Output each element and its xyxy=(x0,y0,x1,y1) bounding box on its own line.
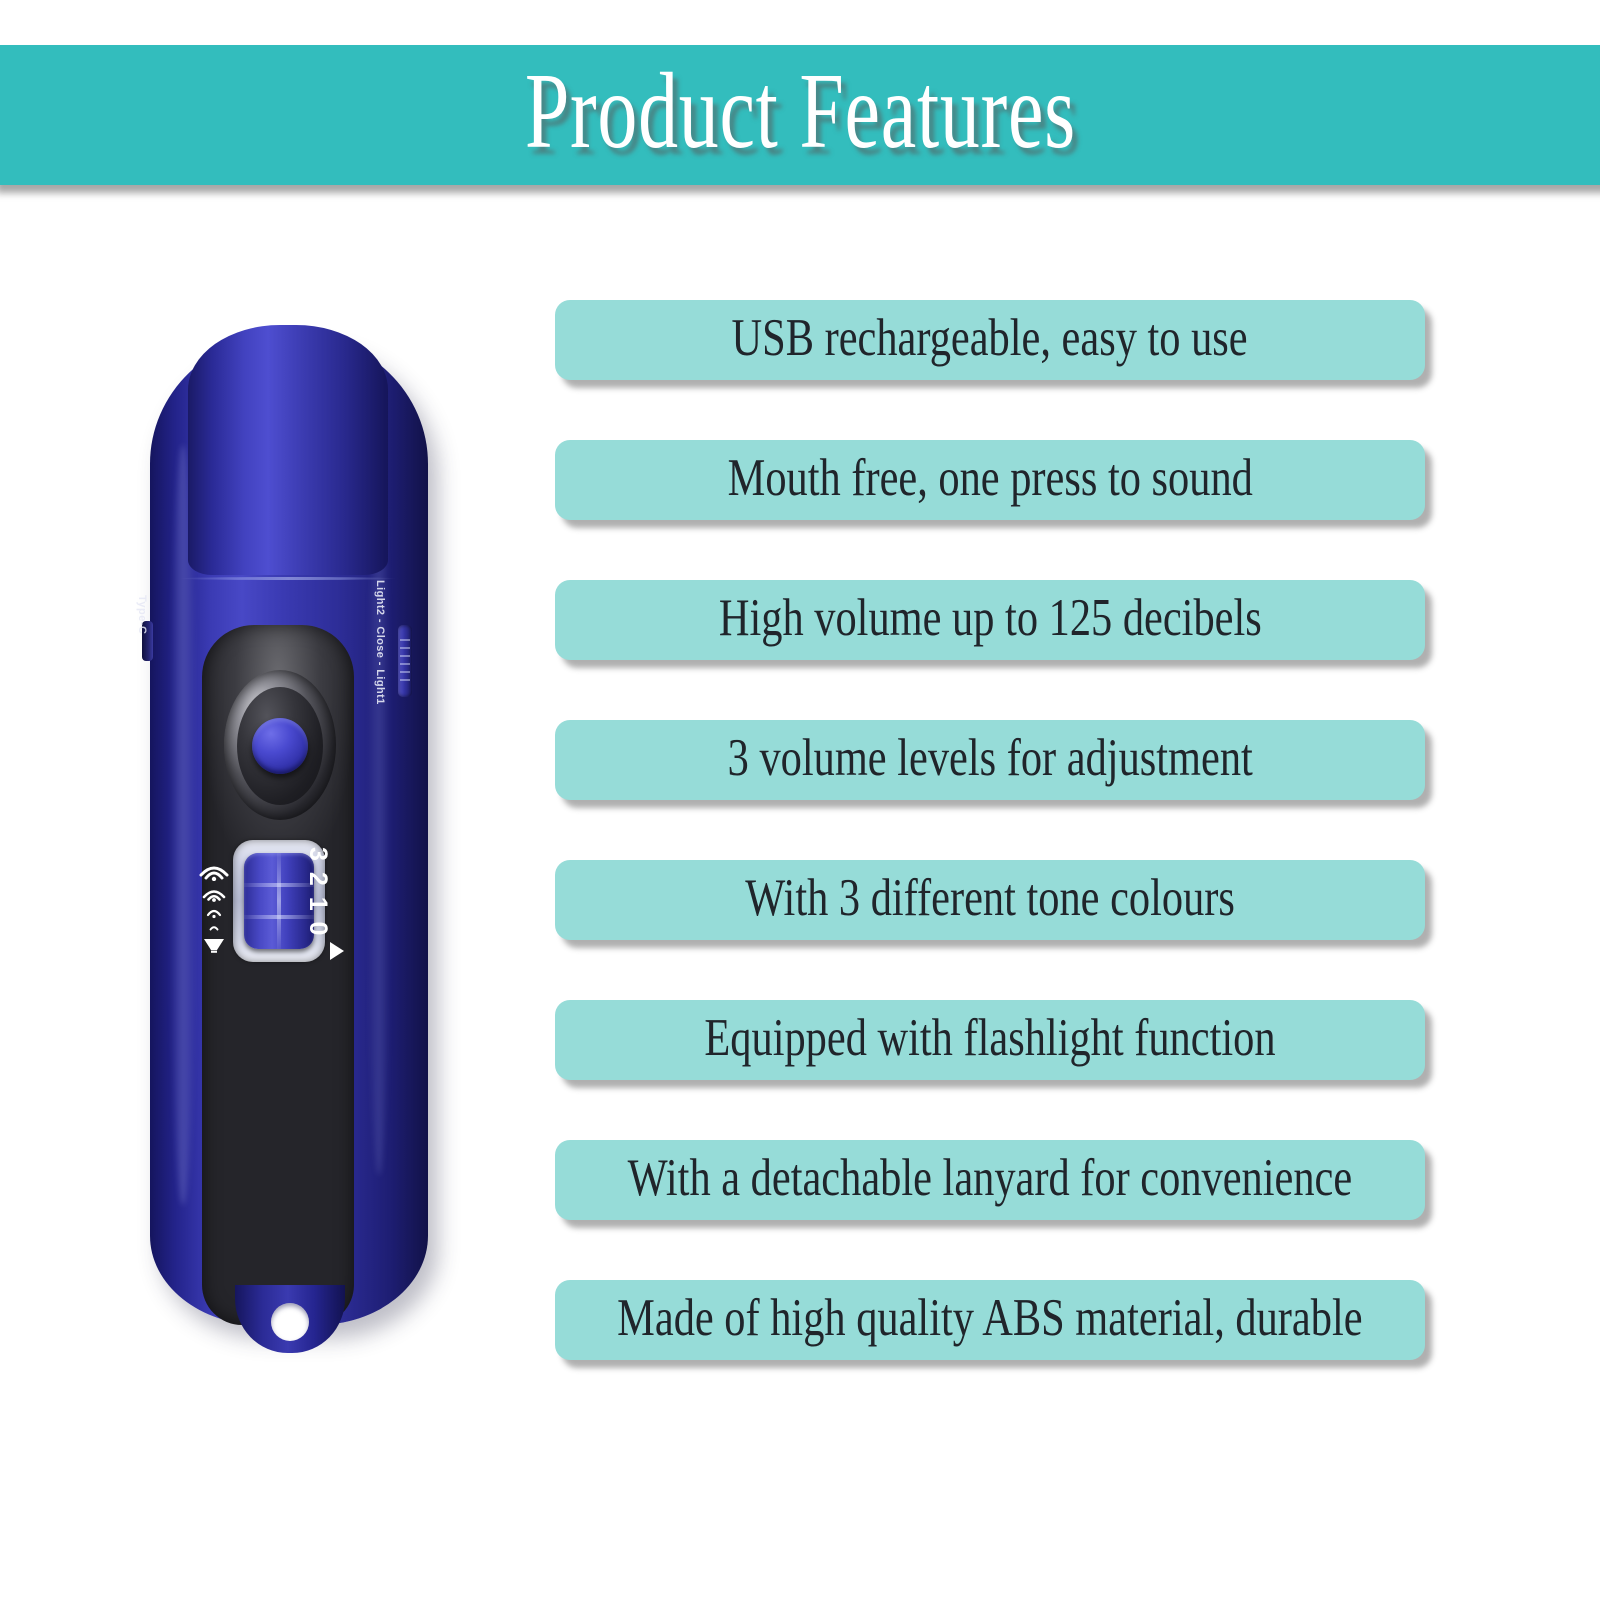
speaker-icon xyxy=(203,937,225,953)
feature-pill-label: Mouth free, one press to sound xyxy=(727,452,1252,505)
slider-direction-arrow-icon xyxy=(330,942,344,960)
flashlight-side-switch xyxy=(398,625,412,697)
feature-pill-label: Equipped with flashlight function xyxy=(704,1012,1275,1065)
lanyard-hole xyxy=(271,1303,309,1341)
feature-pill-label: Made of high quality ABS material, durab… xyxy=(617,1292,1362,1345)
feature-pill: Equipped with flashlight function xyxy=(555,1000,1425,1080)
feature-pill-label: USB rechargeable, easy to use xyxy=(732,312,1248,365)
feature-pill: USB rechargeable, easy to use xyxy=(555,300,1425,380)
header-banner: Product Features xyxy=(0,45,1600,185)
flashlight-switch-label: Light2 - Close - Light1 xyxy=(374,580,386,705)
page-title: Product Features xyxy=(524,58,1075,166)
feature-pill: Made of high quality ABS material, durab… xyxy=(555,1280,1425,1360)
feature-pill: 3 volume levels for adjustment xyxy=(555,720,1425,800)
feature-list: USB rechargeable, easy to use Mouth free… xyxy=(555,300,1425,1420)
feature-pill: Mouth free, one press to sound xyxy=(555,440,1425,520)
feature-pill-label: High volume up to 125 decibels xyxy=(719,592,1262,645)
volume-wave-icon-group xyxy=(197,859,231,941)
product-image-dog-whistle: Type-C Light2 - Close - Light1 xyxy=(140,325,440,1355)
whistle-top-cap xyxy=(188,325,388,575)
sound-wave-large-icon xyxy=(198,859,230,881)
feature-pill-label: With 3 different tone colours xyxy=(745,872,1235,925)
usb-c-port-label: Type-C xyxy=(136,595,148,634)
body-seam-line xyxy=(180,577,396,580)
feature-pill: With a detachable lanyard for convenienc… xyxy=(555,1140,1425,1220)
feature-pill: With 3 different tone colours xyxy=(555,860,1425,940)
sound-wave-mute-icon xyxy=(208,922,220,933)
volume-level-scale: 3 2 1 0 xyxy=(238,847,330,881)
sound-press-button xyxy=(252,718,308,774)
sound-wave-medium-icon xyxy=(201,884,227,902)
sound-wave-small-icon xyxy=(205,905,223,919)
feature-pill-label: With a detachable lanyard for convenienc… xyxy=(628,1152,1353,1205)
feature-pill: High volume up to 125 decibels xyxy=(555,580,1425,660)
feature-pill-label: 3 volume levels for adjustment xyxy=(727,732,1252,785)
